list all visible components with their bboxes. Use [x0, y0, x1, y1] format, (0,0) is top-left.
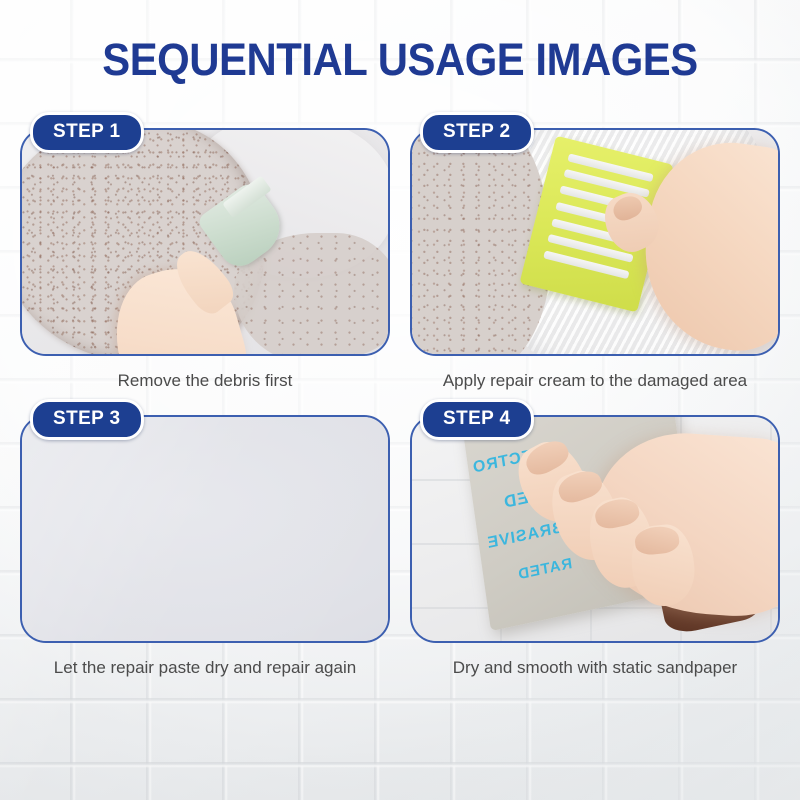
step-badge-3: STEP 3	[30, 399, 144, 440]
step-1-photo	[22, 130, 388, 354]
step-card-3[interactable]	[20, 415, 390, 643]
step-cell-4: ATED ELECTRO COATED ABRASIVE RATED	[410, 415, 780, 680]
sandpaper-print-line-5: RATED	[516, 555, 573, 583]
step-card-4[interactable]: ATED ELECTRO COATED ABRASIVE RATED	[410, 415, 780, 643]
step-caption-4: Dry and smooth with static sandpaper	[410, 655, 780, 680]
step-cell-1: STEP 1 Remove the debris first	[20, 128, 390, 393]
step-4-photo: ATED ELECTRO COATED ABRASIVE RATED	[412, 417, 778, 641]
step-badge-1: STEP 1	[30, 112, 144, 153]
step-caption-2: Apply repair cream to the damaged area	[410, 368, 780, 393]
wall-sheen	[22, 417, 388, 641]
step-cell-2: STEP 2 Apply repair cream to the damaged…	[410, 128, 780, 393]
steps-grid: STEP 1 Remove the debris first	[20, 128, 780, 680]
step-caption-1: Remove the debris first	[20, 368, 390, 393]
page-title: SEQUENTIAL USAGE IMAGES	[28, 34, 772, 86]
step-card-2[interactable]	[410, 128, 780, 356]
step-2-photo	[412, 130, 778, 354]
step-card-1[interactable]	[20, 128, 390, 356]
step-badge-2: STEP 2	[420, 112, 534, 153]
step-cell-3: STEP 3 Let the repair paste dry and repa…	[20, 415, 390, 680]
promo-page: SEQUENTIAL USAGE IMAGES STEP 1 Remove th…	[0, 0, 800, 800]
step-3-photo	[22, 417, 388, 641]
step-caption-3: Let the repair paste dry and repair agai…	[20, 655, 390, 680]
step-badge-4: STEP 4	[420, 399, 534, 440]
